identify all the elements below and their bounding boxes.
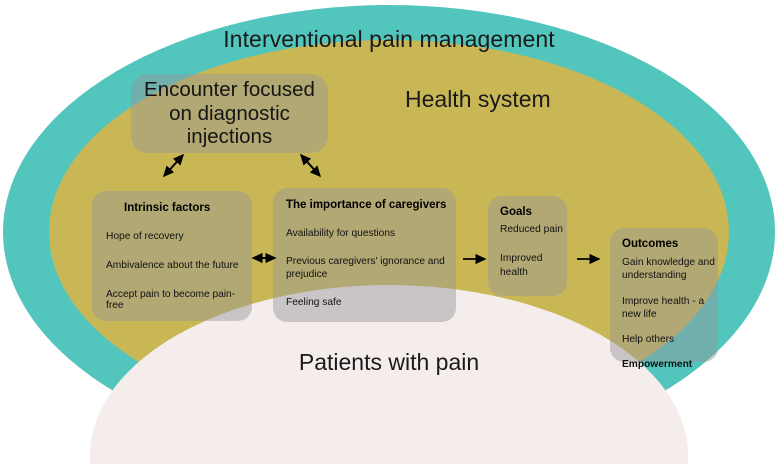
node-outcomes-item-4: Empowerment bbox=[622, 358, 718, 371]
double-arrow-icon-intrinsic-to-caregivers bbox=[250, 250, 280, 266]
node-caregivers-item-2: Previous caregivers' ignorance and preju… bbox=[286, 255, 456, 282]
node-encounter-line-3: injections bbox=[144, 125, 315, 149]
node-outcomes[interactable]: Outcomes Gain knowledge and understandin… bbox=[610, 228, 718, 362]
node-importance-of-caregivers[interactable]: The importance of caregivers Availabilit… bbox=[273, 188, 456, 322]
node-outcomes-item-3: Help others bbox=[622, 333, 718, 346]
node-caregivers-title: The importance of caregivers bbox=[286, 199, 456, 211]
node-intrinsic-item-3: Accept pain to become pain-free bbox=[106, 289, 252, 311]
diagram-canvas: Interventional pain management Health sy… bbox=[0, 0, 778, 464]
node-intrinsic-item-2: Ambivalence about the future bbox=[106, 260, 252, 271]
node-caregivers-item-1: Availability for questions bbox=[286, 227, 456, 241]
node-outcomes-title: Outcomes bbox=[622, 238, 718, 250]
node-goals-item-1: Reduced pain bbox=[500, 223, 567, 236]
arrow-icon-caregivers-to-goals bbox=[461, 251, 491, 267]
node-encounter-line-2: on diagnostic bbox=[144, 102, 315, 126]
node-intrinsic-title: Intrinsic factors bbox=[124, 202, 252, 214]
node-caregivers-item-3: Feeling safe bbox=[286, 296, 456, 310]
node-goals[interactable]: Goals Reduced pain Improved health bbox=[488, 196, 567, 296]
node-encounter-text: Encounter focused on diagnostic injectio… bbox=[144, 78, 315, 149]
middle-region-label: Health system bbox=[405, 86, 551, 113]
node-outcomes-item-1: Gain knowledge and understanding bbox=[622, 256, 718, 283]
double-arrow-icon-encounter-to-intrinsic bbox=[160, 152, 192, 180]
node-goals-title: Goals bbox=[500, 206, 567, 218]
arrow-icon-goals-to-outcomes bbox=[575, 251, 605, 267]
node-goals-item-2: Improved health bbox=[500, 252, 567, 279]
node-intrinsic-item-1: Hope of recovery bbox=[106, 231, 252, 242]
node-encounter-focused-on-diagnostic-injections[interactable]: Encounter focused on diagnostic injectio… bbox=[131, 74, 328, 153]
double-arrow-icon-encounter-to-caregivers bbox=[298, 152, 330, 180]
node-outcomes-item-2: Improve health - a new life bbox=[622, 295, 718, 322]
node-intrinsic-factors[interactable]: Intrinsic factors Hope of recovery Ambiv… bbox=[92, 191, 252, 321]
outer-region-label: Interventional pain management bbox=[0, 26, 778, 53]
node-encounter-line-1: Encounter focused bbox=[144, 78, 315, 102]
